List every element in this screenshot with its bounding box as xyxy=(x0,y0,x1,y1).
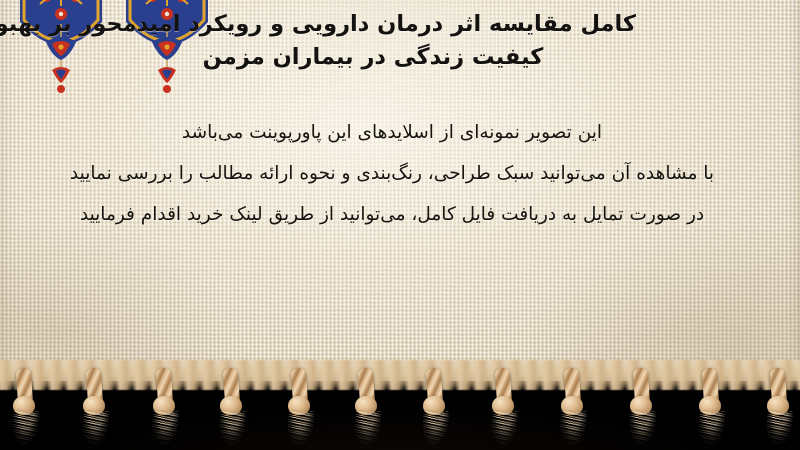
fringe-tassel xyxy=(283,368,317,448)
fringe-tassel xyxy=(762,368,796,448)
fringe-tassel xyxy=(8,368,42,448)
slide-body-text: این تصویر نمونه‌ای از اسلایدهای این پاور… xyxy=(0,112,784,235)
fringe-tassel xyxy=(487,368,521,448)
fringe-tassel xyxy=(625,368,659,448)
tassel-strands-icon xyxy=(10,409,39,449)
slide-body-line-3: در صورت تمایل به دریافت فایل کامل، می‌تو… xyxy=(0,194,784,235)
tassel-strands-icon xyxy=(627,409,656,449)
fringe-tassel xyxy=(78,368,112,448)
slide-title: کامل مقایسه اثر درمان دارویی و رویکرد ام… xyxy=(0,8,786,74)
slide-title-line-2: کیفیت زندگی در بیماران مزمن xyxy=(0,41,786,74)
fringe-tassel xyxy=(215,368,249,448)
fringe-tassel xyxy=(556,368,590,448)
tassel-strands-icon xyxy=(352,409,381,449)
tassel-strands-icon xyxy=(558,409,587,449)
rug-fringe-tassels xyxy=(0,368,800,450)
fringe-tassel xyxy=(350,368,384,448)
tassel-strands-icon xyxy=(489,409,518,449)
tassel-strands-icon xyxy=(150,409,179,449)
fringe-tassel xyxy=(418,368,452,448)
tassel-strands-icon xyxy=(80,409,109,449)
slide-title-line-1: کامل مقایسه اثر درمان دارویی و رویکرد ام… xyxy=(0,8,786,41)
slide-body-line-2: با مشاهده آن می‌توانید سبک طراحی، رنگ‌بن… xyxy=(0,153,784,194)
slide-body-line-1: این تصویر نمونه‌ای از اسلایدهای این پاور… xyxy=(0,112,784,153)
presentation-slide: کامل مقایسه اثر درمان دارویی و رویکرد ام… xyxy=(0,0,800,450)
tassel-strands-icon xyxy=(420,409,449,449)
fringe-tassel xyxy=(694,368,728,448)
tassel-strands-icon xyxy=(696,409,725,449)
fringe-tassel xyxy=(148,368,182,448)
tassel-strands-icon xyxy=(764,409,793,449)
tassel-strands-icon xyxy=(217,409,246,449)
tassel-strands-icon xyxy=(285,409,314,449)
